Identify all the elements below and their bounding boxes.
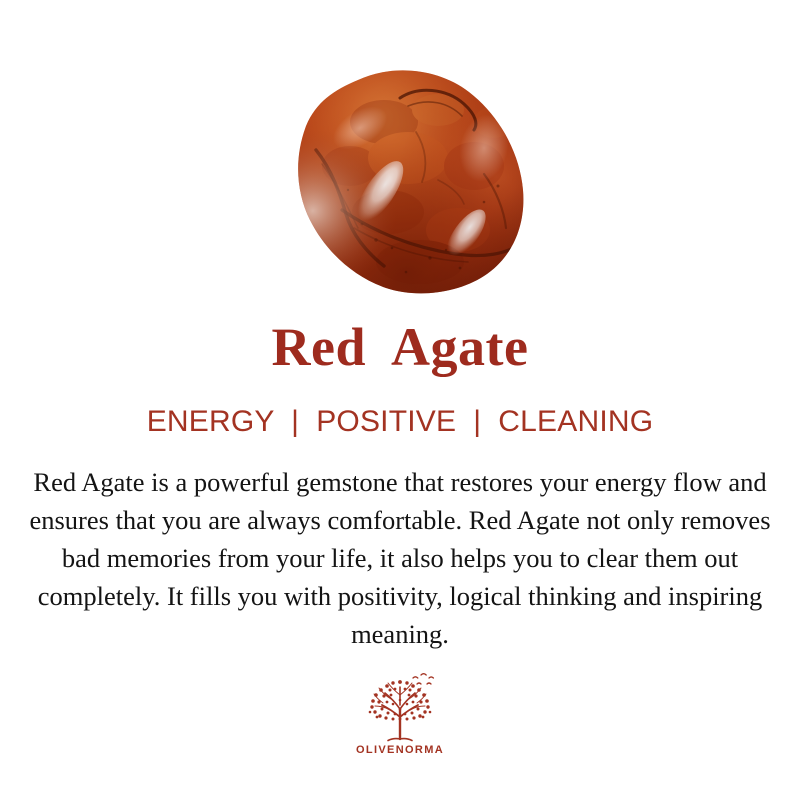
red-agate-stone-image: [288, 62, 536, 302]
red-agate-stone-icon: [288, 62, 536, 302]
page-title: Red Agate: [272, 320, 529, 374]
hero-image-area: [0, 0, 800, 320]
tree-of-life-icon: [357, 669, 443, 743]
attributes-line: ENERGY | POSITIVE | CLEANING: [147, 407, 654, 437]
stone-body: [288, 62, 536, 302]
brand-name: OLIVENORMA: [356, 745, 444, 756]
brand-logo: OLIVENORMA: [340, 669, 460, 756]
product-info-card: Red Agate ENERGY | POSITIVE | CLEANING R…: [0, 0, 800, 800]
tree-birds: [413, 674, 433, 684]
product-description: Red Agate is a powerful gemstone that re…: [20, 463, 780, 653]
